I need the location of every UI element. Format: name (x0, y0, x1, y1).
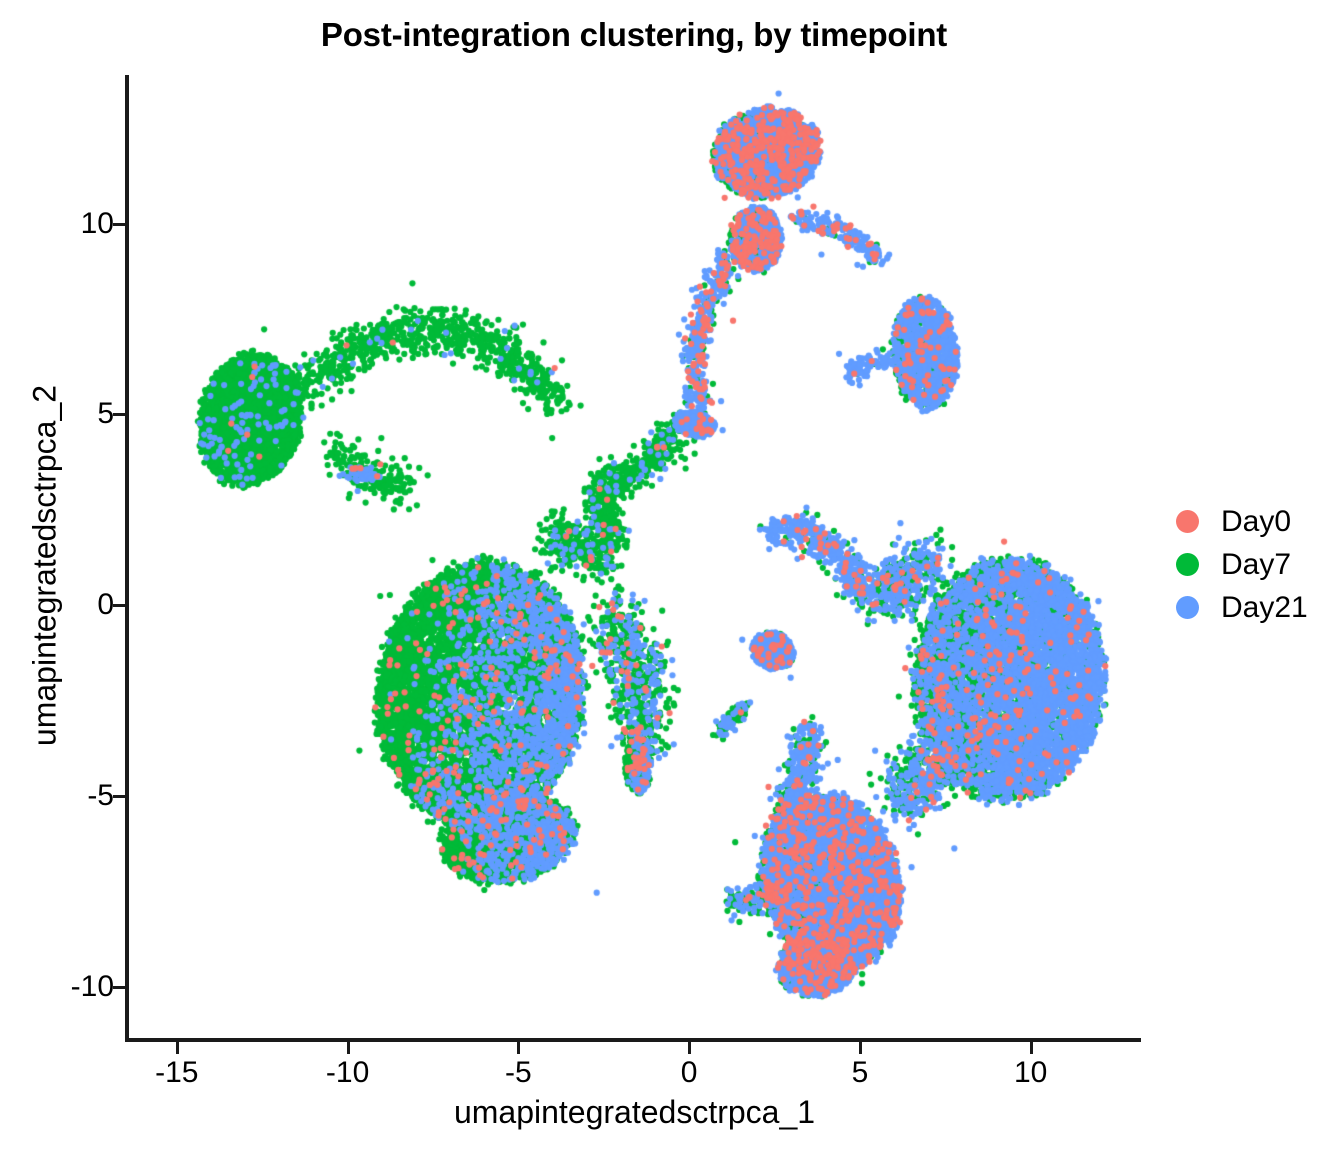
x-tick-mark (347, 1041, 350, 1054)
legend-item-day0[interactable]: Day0 (1176, 500, 1336, 543)
y-tick-label: -10 (71, 970, 114, 1004)
legend-key-swatch (1176, 553, 1199, 576)
x-tick-label: 10 (1014, 1056, 1047, 1090)
y-axis-title: umapintegratedsctrpca_2 (27, 66, 64, 1066)
legend-item-label: Day0 (1221, 505, 1291, 539)
y-tick-mark (113, 604, 126, 607)
y-tick-mark (113, 986, 126, 989)
x-axis-title: umapintegratedsctrpca_1 (129, 1094, 1140, 1131)
y-tick-label: 5 (97, 397, 114, 431)
plot-panel (129, 75, 1140, 1040)
y-tick-mark (113, 223, 126, 226)
y-tick-label: 10 (81, 207, 114, 241)
x-tick-mark (859, 1041, 862, 1054)
x-tick-label: -10 (326, 1056, 369, 1090)
x-tick-mark (517, 1041, 520, 1054)
y-axis-line (125, 75, 129, 1041)
x-tick-mark (688, 1041, 691, 1054)
x-tick-label: 5 (852, 1056, 869, 1090)
y-tick-label: -5 (87, 779, 114, 813)
x-tick-mark (1030, 1041, 1033, 1054)
legend-key-swatch (1176, 510, 1199, 533)
page-title: Post-integration clustering, by timepoin… (128, 16, 1140, 54)
legend-item-label: Day7 (1221, 548, 1291, 582)
y-tick-label: 0 (97, 588, 114, 622)
legend-item-day21[interactable]: Day21 (1176, 586, 1336, 629)
legend: Day0Day7Day21 (1176, 500, 1336, 629)
y-tick-mark (113, 795, 126, 798)
legend-key-swatch (1176, 596, 1199, 619)
legend-item-day7[interactable]: Day7 (1176, 543, 1336, 586)
umap-scatter-figure: Post-integration clustering, by timepoin… (0, 0, 1344, 1152)
y-tick-mark (113, 413, 126, 416)
x-tick-label: 0 (681, 1056, 698, 1090)
x-axis-line (125, 1038, 1141, 1042)
legend-item-label: Day21 (1221, 591, 1308, 625)
x-tick-label: -15 (155, 1056, 198, 1090)
x-tick-mark (176, 1041, 179, 1054)
x-tick-label: -5 (505, 1056, 532, 1090)
scatter-plot-canvas (129, 75, 1140, 1040)
